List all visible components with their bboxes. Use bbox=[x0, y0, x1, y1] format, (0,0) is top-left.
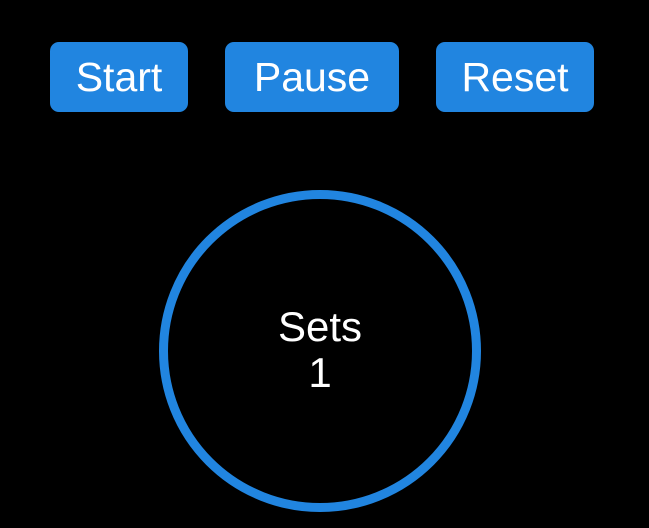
reset-button[interactable]: Reset bbox=[436, 42, 594, 112]
timer-control-bar: Start Pause Reset bbox=[50, 42, 594, 112]
sets-progress-ring[interactable]: Sets 1 bbox=[159, 190, 481, 512]
pause-button[interactable]: Pause bbox=[225, 42, 399, 112]
progress-ring-icon bbox=[159, 190, 481, 512]
timer-app-root: Start Pause Reset Sets 1 bbox=[0, 0, 649, 528]
start-button[interactable]: Start bbox=[50, 42, 188, 112]
progress-ring-circle bbox=[164, 195, 477, 508]
